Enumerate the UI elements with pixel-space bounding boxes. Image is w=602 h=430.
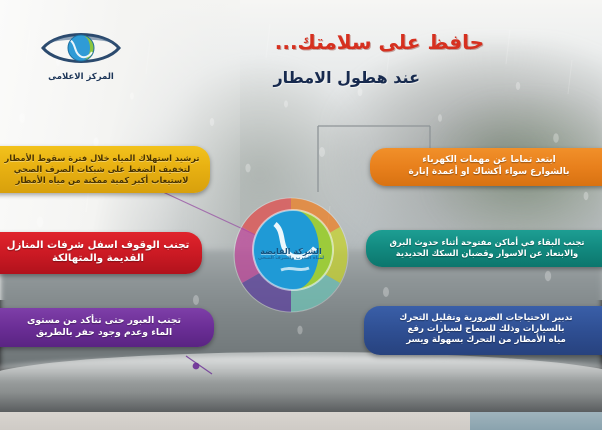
tip-line: والابتعاد عن الاسوار وقضبان السكك الحديد… [376, 248, 598, 259]
tip-line: ترشيد استهلاك المياه خلال فترة سقوط الأم… [4, 153, 200, 164]
tip-line: ابتعد تماما عن مهمات الكهرباء [380, 155, 598, 167]
tip-line: تدبير الاحتياجات الضرورية وتقليل التحرك [374, 313, 598, 324]
tip-card-avoid-crossing[interactable]: تجنب العبور حتى تتأكد من مستوى الماء وعد… [0, 308, 214, 347]
org-name: الشركة القابضة [236, 248, 346, 256]
tip-line: لاستيعاب أكبر كمية ممكنة من مياه الأمطار [4, 175, 200, 186]
infographic-poster: المركز الاعلامى حافظ على سلامتك... عند ه… [0, 0, 602, 430]
tip-line: بالشوارع سواء أكشاك او أعمدة إنارة [380, 167, 598, 179]
center-emblem-text: الشركة القابضة لمياه الشرب والصرف الصحي [236, 248, 346, 262]
org-tagline: لمياه الشرب والصرف الصحي [236, 257, 346, 262]
tip-line: الماء وعدم وجود حفر بالطريق [4, 327, 204, 339]
dashboard-lower-band-right [470, 412, 602, 430]
tip-card-avoid-open-areas[interactable]: تجنب البقاء في أماكن مفتوحة أثناء حدوث ا… [366, 230, 602, 267]
logo-caption: المركز الاعلامى [40, 72, 122, 82]
dashboard-highlight [0, 356, 602, 382]
tip-line: تجنب الوقوف اسفل شرفات المنازل [4, 239, 192, 252]
tip-line: بالسيارات وذلك للسماح لسيارات رفع [374, 324, 598, 335]
tip-line: لتخفيف الضغط على شبكات الصرف الصحي [4, 164, 200, 175]
tip-card-water-consumption[interactable]: ترشيد استهلاك المياه خلال فترة سقوط الأم… [0, 146, 210, 193]
tip-line: تجنب العبور حتى تتأكد من مستوى [4, 315, 204, 327]
media-center-logo: المركز الاعلامى [40, 26, 122, 88]
page-subtitle: عند هطول الامطار [273, 68, 420, 87]
eye-globe-logo-icon [40, 26, 122, 70]
tip-card-avoid-electrical[interactable]: ابتعد تماما عن مهمات الكهرباء بالشوارع س… [370, 148, 602, 186]
page-title: حافظ على سلامتك... [275, 30, 484, 54]
tip-line: القديمة والمتهالكة [4, 252, 192, 265]
tip-line: تجنب البقاء في أماكن مفتوحة أثناء حدوث ا… [376, 237, 598, 248]
center-emblem: الشركة القابضة لمياه الشرب والصرف الصحي [232, 196, 350, 314]
tip-card-avoid-balconies[interactable]: تجنب الوقوف اسفل شرفات المنازل القديمة و… [0, 232, 202, 274]
tip-line: مياه الأمطار من التحرك بسهولة ويسر [374, 335, 598, 346]
tip-card-limit-car-movement[interactable]: تدبير الاحتياجات الضرورية وتقليل التحرك … [364, 306, 602, 355]
